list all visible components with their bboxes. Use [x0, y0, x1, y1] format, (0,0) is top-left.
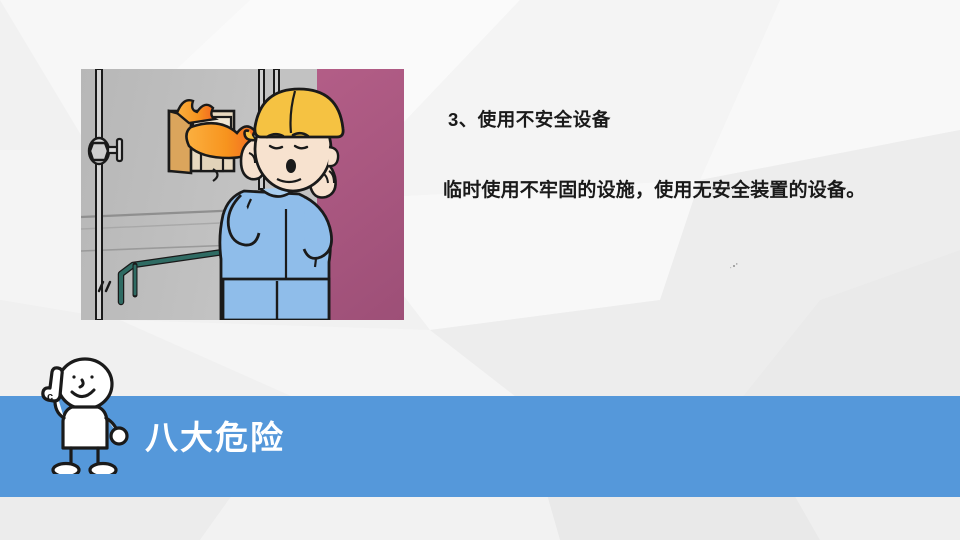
- bottom-banner: [0, 396, 960, 497]
- content-paragraph: 临时使用不牢固的设施，使用无安全装置的设备。: [443, 178, 923, 204]
- text-content-block: 3、使用不安全设备 临时使用不牢固的设施，使用无安全装置的设备。: [443, 108, 923, 204]
- banner-bar: [0, 396, 960, 497]
- mascot-artwork: c: [26, 356, 130, 474]
- banner-title: 八大危险: [145, 421, 285, 454]
- stick-figure-icon: c: [26, 356, 130, 474]
- safety-illustration: [81, 69, 404, 320]
- illustration-artwork: [81, 69, 404, 320]
- cursor-dot-icon: [729, 263, 739, 271]
- content-heading: 3、使用不安全设备: [448, 108, 923, 133]
- hand-detail-glyph: c: [47, 391, 53, 403]
- slide-canvas: 3、使用不安全设备 临时使用不牢固的设施，使用无安全装置的设备。 八大危险: [0, 0, 960, 540]
